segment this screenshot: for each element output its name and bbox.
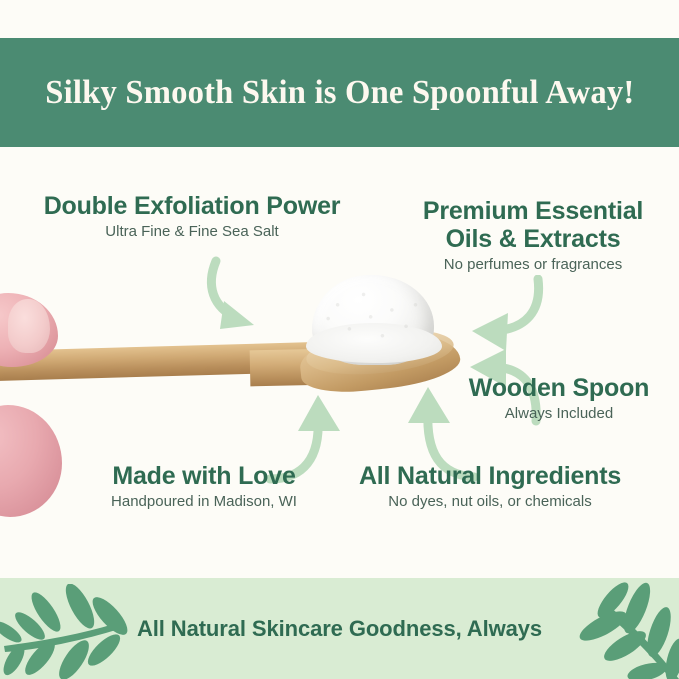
product-infographic: Silky Smooth Skin is One Spoonful Away! [0, 0, 679, 679]
feature-title: All Natural Ingredients [330, 462, 650, 490]
feature-title: Made with Love [78, 462, 330, 490]
feature-subtitle: Handpoured in Madison, WI [78, 493, 330, 512]
spoon-handle-icon [0, 342, 324, 381]
feature-subtitle: Always Included [448, 405, 670, 424]
header-title: Silky Smooth Skin is One Spoonful Away! [45, 74, 634, 112]
feature-subtitle: No dyes, nut oils, or chemicals [330, 493, 650, 512]
feature-wooden-spoon: Wooden Spoon Always Included [448, 374, 670, 424]
feature-subtitle: No perfumes or fragrances [402, 256, 664, 275]
spoon-bowl-icon [298, 325, 463, 397]
feature-title: Premium Essential Oils & Extracts [402, 197, 664, 253]
spoon-neck-icon [250, 348, 381, 387]
spoon-bowl-rim-icon [304, 323, 456, 380]
thumb-icon [0, 405, 62, 517]
feature-double-exfoliation-power: Double Exfoliation Power Ultra Fine & Fi… [18, 192, 366, 242]
feature-title: Double Exfoliation Power [18, 192, 366, 220]
footer-banner: All Natural Skincare Goodness, Always [0, 578, 679, 679]
salt-grain-texture-icon [314, 279, 432, 365]
header-banner: Silky Smooth Skin is One Spoonful Away! [0, 38, 679, 147]
feature-made-with-love: Made with Love Handpoured in Madison, WI [78, 462, 330, 512]
salt-scrub-icon [312, 275, 434, 365]
feature-subtitle: Ultra Fine & Fine Sea Salt [18, 223, 366, 242]
arrow-to-salt-from-exfoliation [198, 255, 288, 335]
feature-all-natural-ingredients: All Natural Ingredients No dyes, nut oil… [330, 462, 650, 512]
fingernail-icon [8, 299, 50, 353]
feature-premium-essential-oils-extracts: Premium Essential Oils & Extracts No per… [402, 197, 664, 275]
footer-tagline: All Natural Skincare Goodness, Always [0, 578, 679, 679]
arrow-to-salt-from-oils [450, 275, 550, 365]
index-finger-icon [0, 293, 58, 367]
feature-title: Wooden Spoon [448, 374, 670, 402]
middle-content-area: Double Exfoliation Power Ultra Fine & Fi… [0, 147, 679, 578]
